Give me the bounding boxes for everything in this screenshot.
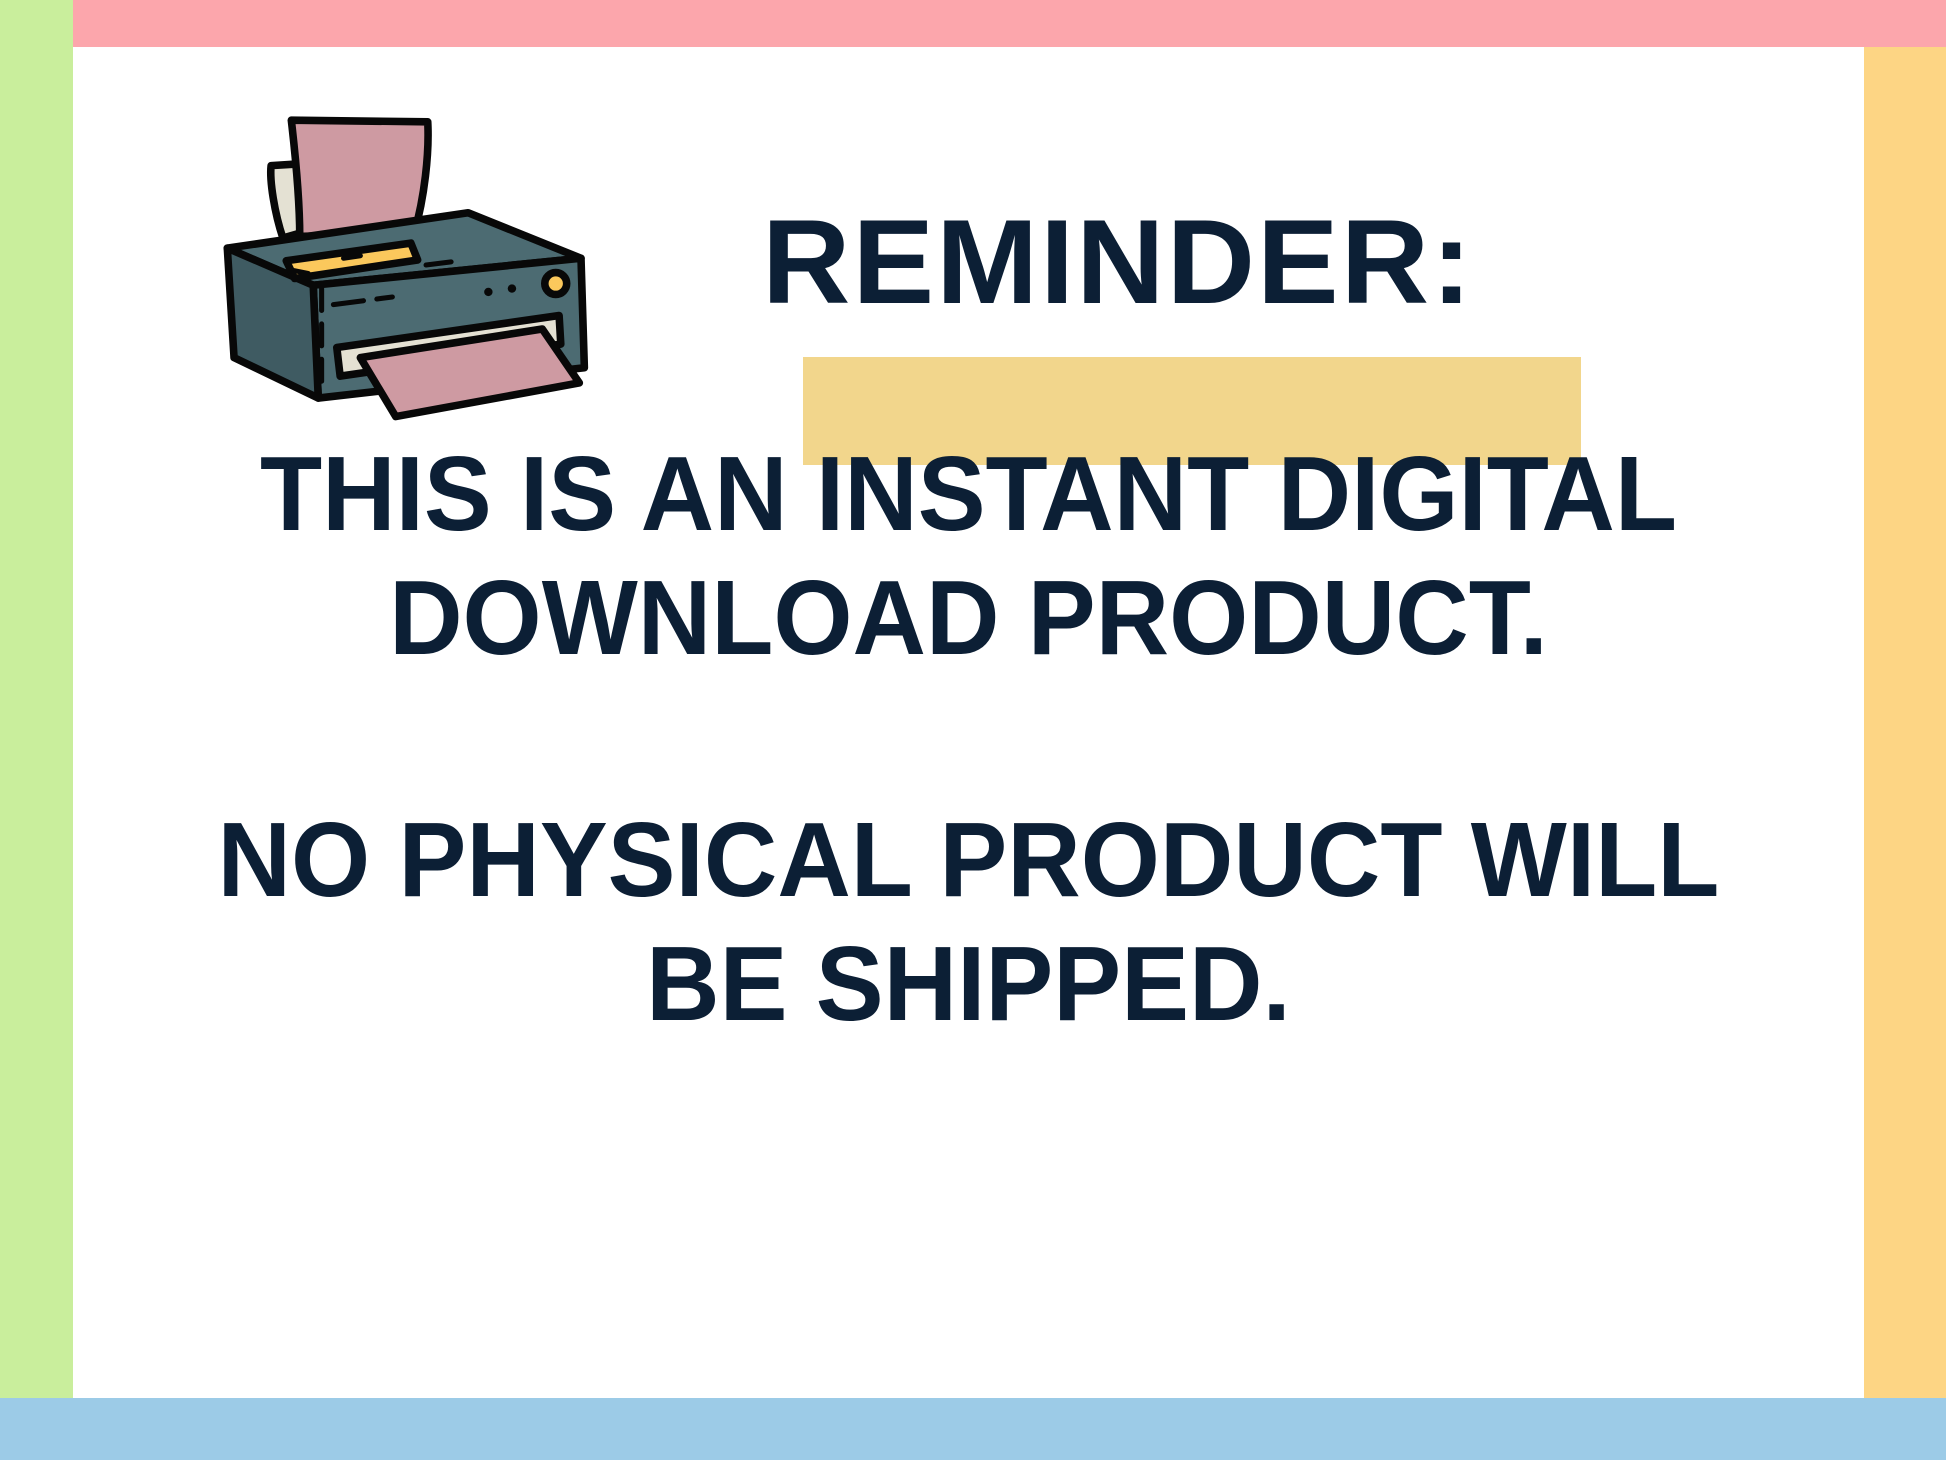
paragraph-spacer — [163, 680, 1774, 798]
right-border-band — [1864, 47, 1946, 1398]
page-title: REMINDER: — [634, 202, 1603, 322]
top-border-band — [73, 0, 1946, 47]
body-line-3: NO PHYSICAL PRODUCT WILL — [195, 798, 1742, 922]
bottom-border-band — [0, 1398, 1946, 1460]
button-dot-2 — [484, 288, 492, 296]
poster-header: REMINDER: — [73, 47, 1864, 447]
poster-body-copy: THIS IS AN INSTANT DIGITAL DOWNLOAD PROD… — [163, 432, 1774, 1046]
reminder-poster: REMINDER: THIS IS AN INSTANT DIGITAL DOW… — [0, 0, 1946, 1460]
power-light-icon — [545, 273, 567, 295]
button-dot-1 — [508, 284, 516, 292]
body-line-1: THIS IS AN INSTANT DIGITAL — [195, 432, 1742, 556]
poster-content-area: REMINDER: THIS IS AN INSTANT DIGITAL DOW… — [73, 47, 1864, 1398]
body-line-2: DOWNLOAD PRODUCT. — [195, 556, 1742, 680]
body-line-4: BE SHIPPED. — [195, 922, 1742, 1046]
printer-icon — [211, 105, 631, 425]
printer-illustration-svg — [211, 105, 631, 425]
heading-block: REMINDER: — [643, 202, 1593, 452]
left-border-band — [0, 0, 73, 1398]
